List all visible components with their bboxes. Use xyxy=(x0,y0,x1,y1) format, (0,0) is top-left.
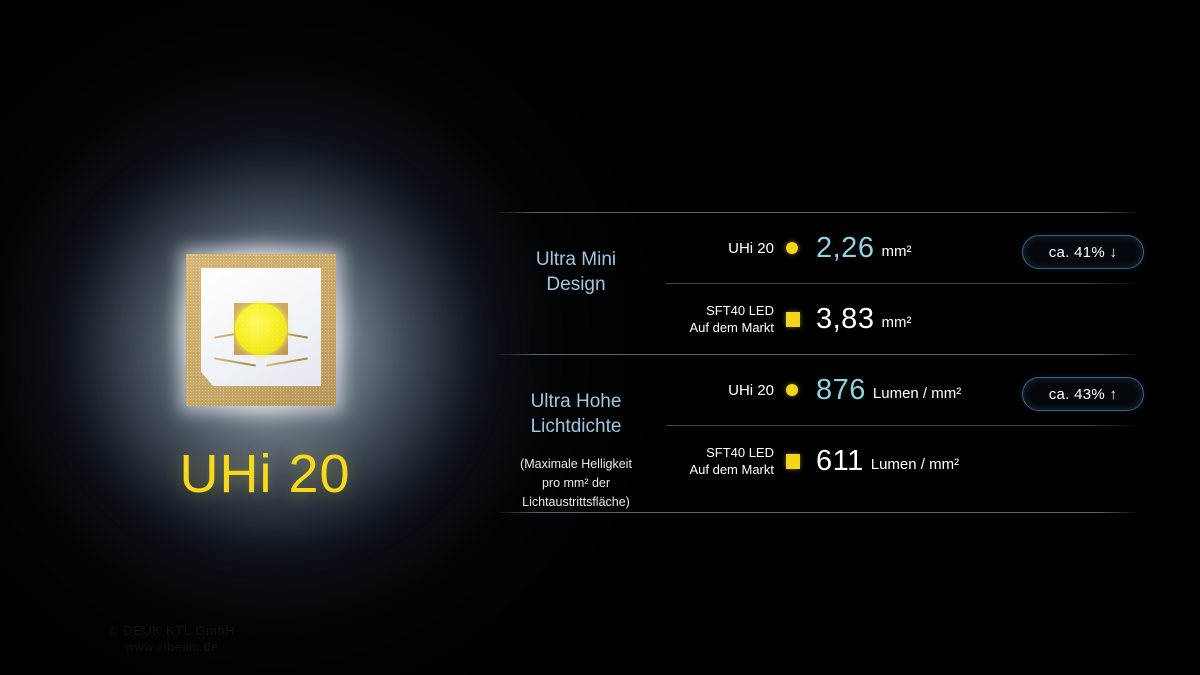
marker-dot-icon xyxy=(786,242,802,254)
section-1-heading-line-2: Design xyxy=(498,272,654,297)
watermark-line-1: © DEUK KTL GmbH xyxy=(62,622,282,639)
panel-rule-bottom xyxy=(498,512,1138,513)
row-value-group: 3,83 mm² xyxy=(816,304,911,335)
section-1-rows: UHi 20 2,26 mm² SFT40 LED Auf dem Markt xyxy=(654,213,1138,354)
section-2-note-line-2: pro mm² der xyxy=(498,474,654,493)
row-value-group: 876 Lumen / mm² xyxy=(816,375,961,406)
row-value: 2,26 xyxy=(816,233,874,264)
row-label-line-1: UHi 20 xyxy=(666,382,774,399)
marker-square-icon xyxy=(786,454,802,469)
watermark-line-2: www.xtbeam.de xyxy=(62,639,282,656)
row-label: UHi 20 xyxy=(666,382,786,399)
product-title: UHi 20 xyxy=(0,443,530,505)
status-badge: ca. 43% ↑ xyxy=(1022,377,1144,411)
slide-root: UHi 20 © DEUK KTL GmbH www.xtbeam.de Ult… xyxy=(0,0,1200,675)
section-ultra-mini-design: Ultra Mini Design UHi 20 2,26 mm² xyxy=(498,213,1138,354)
section-ultra-hohe-lichtdichte: Ultra Hohe Lichtdichte (Maximale Helligk… xyxy=(498,355,1138,512)
section-2-rows: UHi 20 876 Lumen / mm² SFT40 LED Auf dem… xyxy=(654,355,1138,512)
comparison-panel: Ultra Mini Design UHi 20 2,26 mm² xyxy=(498,212,1138,513)
section-2-heading-line-2: Lichtdichte xyxy=(498,414,654,439)
row-label-line-1: SFT40 LED xyxy=(666,302,774,319)
row-value: 3,83 xyxy=(816,304,874,335)
row-value: 876 xyxy=(816,375,866,406)
row-unit: mm² xyxy=(881,314,911,331)
row-label-line-2: Auf dem Markt xyxy=(666,461,774,478)
section-2-note-line-3: Lichtaustrittsfläche) xyxy=(498,493,654,512)
status-badge: ca. 41% ↓ xyxy=(1022,235,1144,269)
section-2-label: Ultra Hohe Lichtdichte (Maximale Helligk… xyxy=(498,355,654,512)
row-label: SFT40 LED Auf dem Markt xyxy=(666,444,786,478)
row-value-group: 611 Lumen / mm² xyxy=(816,446,959,477)
row-label-line-2: Auf dem Markt xyxy=(666,319,774,336)
section-2-heading-line-1: Ultra Hohe xyxy=(498,389,654,414)
row-value: 611 xyxy=(816,446,864,477)
watermark: © DEUK KTL GmbH www.xtbeam.de xyxy=(62,622,282,656)
row-label-line-1: SFT40 LED xyxy=(666,444,774,461)
row-label: SFT40 LED Auf dem Markt xyxy=(666,302,786,336)
section-1-label: Ultra Mini Design xyxy=(498,213,654,354)
row-value-group: 2,26 mm² xyxy=(816,233,911,264)
section-1-heading-line-1: Ultra Mini xyxy=(498,247,654,272)
marker-square-icon xyxy=(786,312,802,327)
section-2-note: (Maximale Helligkeit pro mm² der Lichtau… xyxy=(498,455,654,512)
row-label: UHi 20 xyxy=(666,240,786,257)
row-label-line-1: UHi 20 xyxy=(666,240,774,257)
section-2-note-line-1: (Maximale Helligkeit xyxy=(498,455,654,474)
led-package-image xyxy=(186,254,336,406)
table-row: SFT40 LED Auf dem Markt 611 Lumen / mm² xyxy=(654,426,1138,496)
table-row: SFT40 LED Auf dem Markt 3,83 mm² xyxy=(654,284,1138,354)
row-unit: mm² xyxy=(881,243,911,260)
row-unit: Lumen / mm² xyxy=(873,385,961,402)
row-unit: Lumen / mm² xyxy=(871,456,959,473)
led-phosphor-dome xyxy=(235,303,287,355)
marker-dot-icon xyxy=(786,384,802,396)
